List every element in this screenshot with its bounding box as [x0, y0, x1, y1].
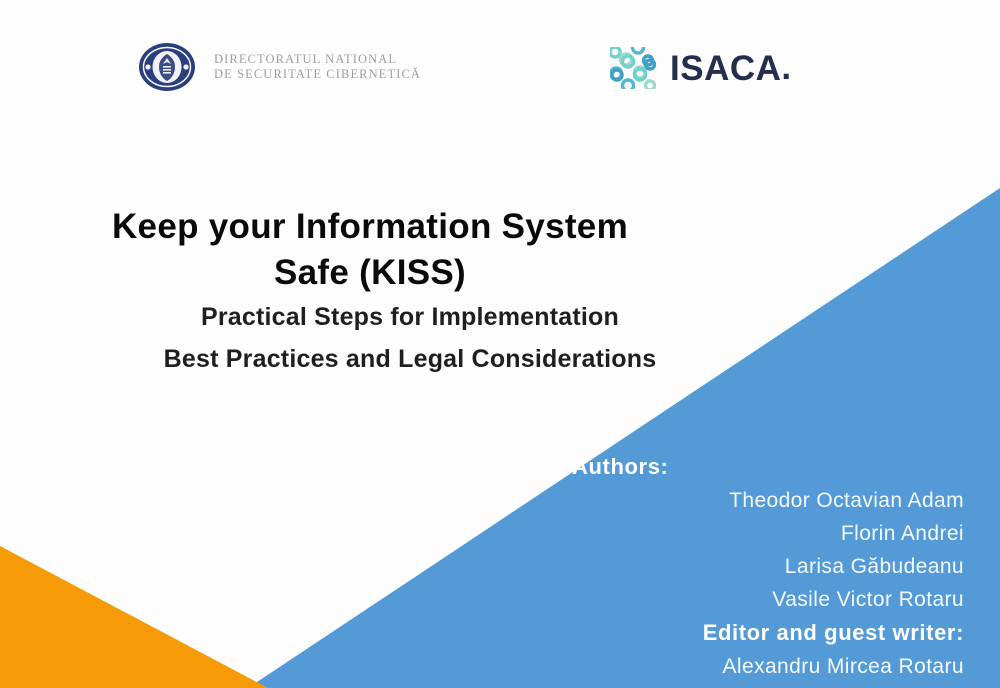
dnsc-logo-line1: DIRECTORATUL NATIONAL	[214, 52, 421, 67]
title-line-2: Safe (KISS)	[0, 250, 740, 296]
dnsc-logo-line2: DE SECURITATE CIBERNETICĂ	[214, 67, 421, 82]
orange-triangle-shape	[0, 546, 268, 688]
editor-name: Alexandru Mircea Rotaru	[534, 650, 964, 683]
isaca-logo: ISACA .	[610, 40, 791, 96]
credits-block: Authors: Theodor Octavian Adam Florin An…	[534, 450, 964, 683]
author-name: Larisa Găbudeanu	[534, 550, 964, 583]
dnsc-logo: DIRECTORATUL NATIONAL DE SECURITATE CIBE…	[138, 34, 421, 100]
subtitle-line-2: Best Practices and Legal Considerations	[0, 338, 820, 380]
author-name: Theodor Octavian Adam	[534, 484, 964, 517]
authors-label: Authors:	[534, 450, 964, 484]
logo-row: DIRECTORATUL NATIONAL DE SECURITATE CIBE…	[0, 34, 1000, 100]
title-line-1: Keep your Information System	[0, 204, 740, 250]
page-title: Keep your Information System Safe (KISS)	[0, 204, 740, 296]
author-name: Florin Andrei	[534, 517, 964, 550]
isaca-wordmark: ISACA	[670, 51, 781, 86]
romanian-coat-of-arms-seal-icon	[138, 38, 196, 96]
isaca-interlocking-mark-icon	[610, 47, 656, 89]
page-subtitle: Practical Steps for Implementation Best …	[0, 296, 820, 380]
document-cover-page: DIRECTORATUL NATIONAL DE SECURITATE CIBE…	[0, 0, 1000, 688]
author-name: Vasile Victor Rotaru	[534, 583, 964, 616]
isaca-trademark-dot: .	[781, 48, 791, 88]
dnsc-logo-text: DIRECTORATUL NATIONAL DE SECURITATE CIBE…	[214, 52, 421, 82]
editor-label: Editor and guest writer:	[534, 616, 964, 650]
subtitle-line-1: Practical Steps for Implementation	[0, 296, 820, 338]
